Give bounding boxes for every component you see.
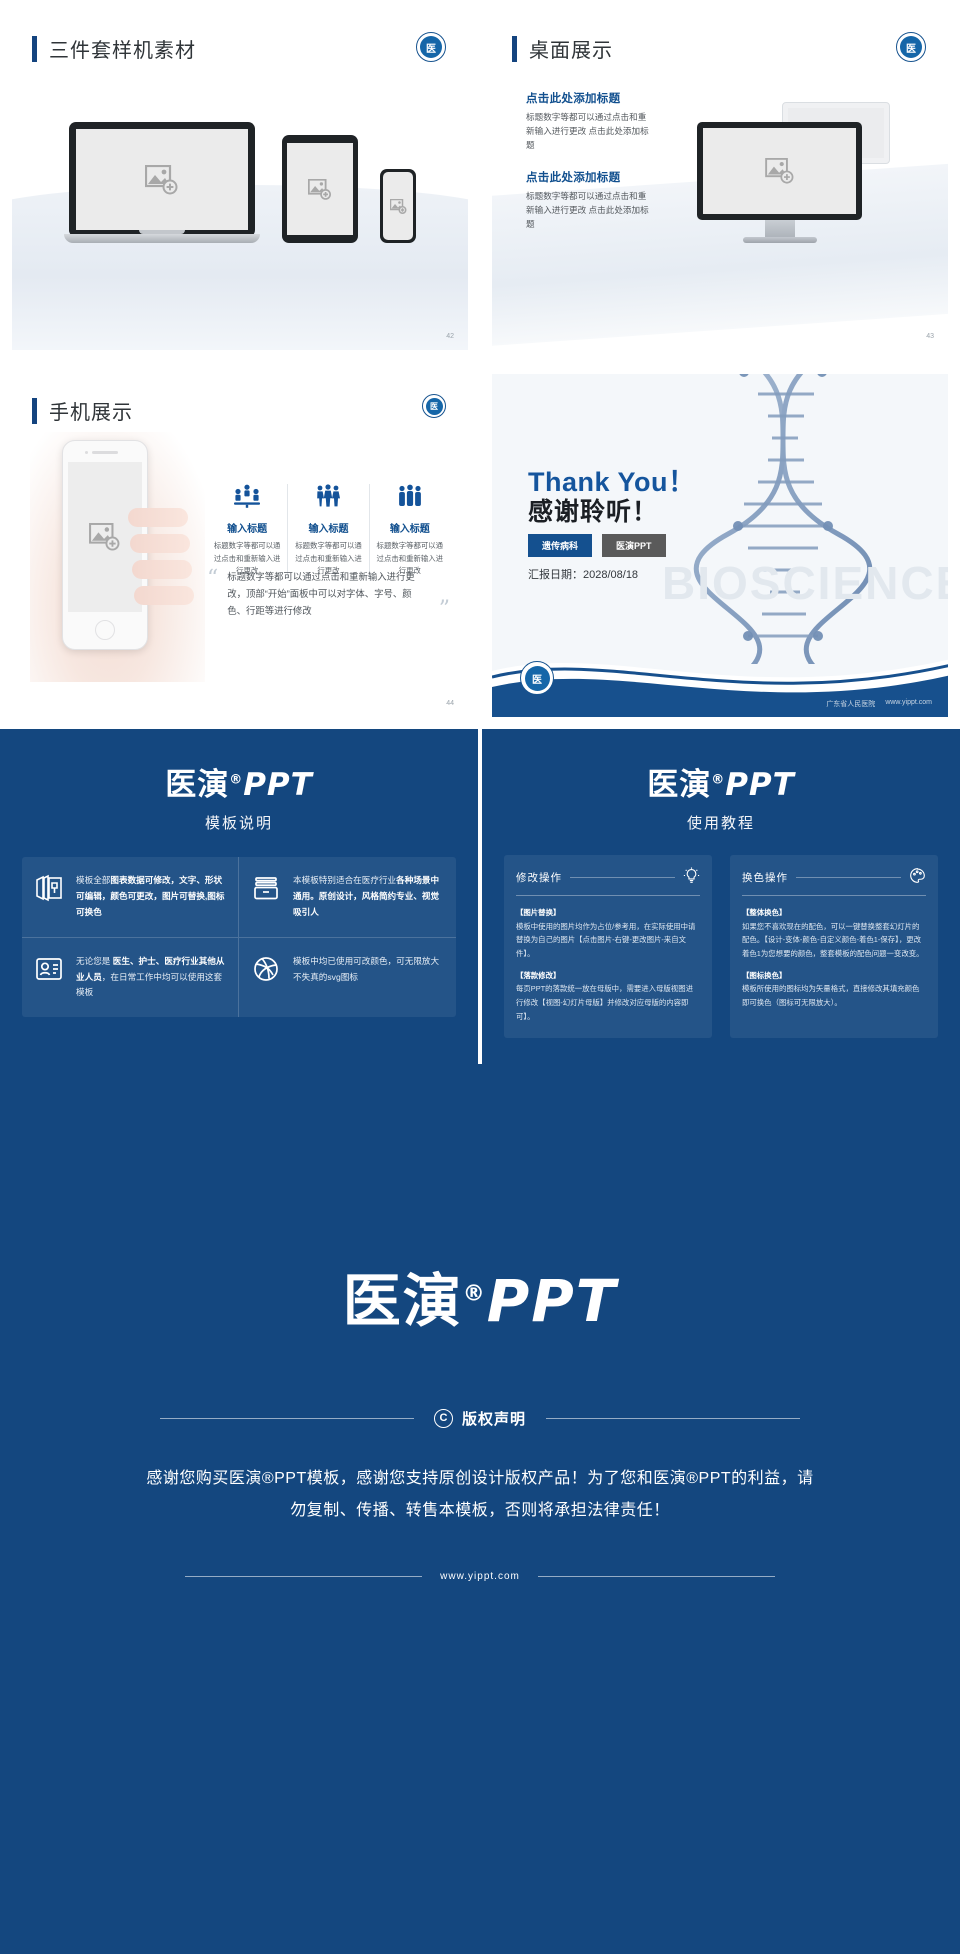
tutorial-item-label: 【整体换色】 (742, 906, 926, 920)
laptop-notch (139, 230, 185, 234)
quote-close-icon: ” (439, 600, 450, 620)
tutorial-heading: 修改操作 (516, 870, 562, 885)
divider-left (185, 1576, 422, 1577)
tag-row: 遗传病科 医演PPT (528, 534, 666, 557)
slide-thumb-desktop[interactable]: 桌面展示 医 点击此处添加标题 标题数字等都可以通过点击和重新输入进行更改 点击… (480, 0, 960, 362)
slide-canvas: 手机展示 医 (12, 374, 468, 717)
description-cell: 模板全部图表数据可修改，文字、形状可编辑，颜色可更改，图片可替换,图标可换色 (22, 857, 239, 938)
hospital-logo: 医 (422, 394, 446, 418)
quote-block: “ 标题数字等都可以通过点击和重新输入进行更改，顶部“开始”面板中可以对字体、字… (207, 569, 450, 620)
website-url[interactable]: www.yippt.com (440, 1571, 520, 1582)
hospital-logo-mark: 医 (420, 36, 442, 58)
slide-header: 手机展示 (32, 396, 133, 425)
feature-title: 输入标题 (294, 520, 362, 535)
block-body: 标题数字等都可以通过点击和重新输入进行更改 点击此处添加标题 (526, 110, 654, 153)
tag-department[interactable]: 遗传病科 (528, 534, 592, 557)
tutorial-body: 【整体换色】 如果您不喜欢现在的配色，可以一键替换整套幻灯片的配色。【设计-变体… (742, 906, 926, 1010)
tutorial-heading-row: 修改操作 (516, 867, 700, 896)
description-text: 本模板特别适合在医疗行业各种场景中通用。原创设计，风格简约专业、视觉吸引人 (293, 873, 444, 921)
hospital-logo: 医 (896, 32, 926, 62)
archive-box-icon (251, 873, 281, 921)
tutorial-column-edit: 修改操作 【图片替换】 模板中使用的图片均作为占位/参考用，在实际使 (504, 855, 712, 1038)
laptop-mockup (64, 122, 260, 243)
description-text: 模板全部图表数据可修改，文字、形状可编辑，颜色可更改，图片可替换,图标可换色 (76, 873, 226, 921)
tutorial-item-text: 模板所使用的图标均为矢量格式，直接修改其填充颜色即可换色（图标可无限放大）。 (742, 984, 919, 1007)
slide-page-number: 44 (446, 700, 454, 707)
copyright-declaration: C 版权声明 (434, 1408, 526, 1429)
brand-name: 医演 (165, 767, 229, 803)
palette-icon (909, 867, 926, 887)
quote-open-icon: “ (207, 569, 218, 589)
feature-item: 输入标题 标题数字等都可以通过点击和重新输入进行更改 (370, 484, 450, 578)
phone-speaker (92, 451, 118, 454)
copyright-label: 版权声明 (462, 1408, 526, 1429)
feature-row: 输入标题 标题数字等都可以通过点击和重新输入进行更改 输入标题 标题数 (207, 484, 450, 578)
image-placeholder-icon (765, 158, 795, 184)
description-text: 无论您是 医生、护士、医疗行业其他从业人员，在日常工作中均可以使用这套模板 (76, 954, 226, 1002)
device-mockups (12, 122, 468, 243)
tablet-body (282, 135, 358, 243)
tablet-screen (287, 143, 353, 235)
primary-monitor-mockup (697, 122, 862, 243)
page-title: 三件套样机素材 (49, 34, 196, 63)
usage-tutorial-panel: 医演®PPT 使用教程 修改操作 (482, 729, 960, 1064)
dribbble-ball-icon (251, 954, 281, 1002)
slide-page-number: 43 (926, 333, 934, 340)
monitor-screen (703, 128, 856, 214)
slide-canvas: 三件套样机素材 医 (12, 12, 468, 350)
hand-holding-phone-photo (30, 432, 205, 682)
brand-suffix: PPT (725, 767, 795, 803)
tutorial-item-text: 每页PPT的落款统一放在母版中，需要进入母版视图进行修改【视图-幻灯片母版】并修… (516, 984, 693, 1020)
description-cell: 本模板特别适合在医疗行业各种场景中通用。原创设计，风格简约专业、视觉吸引人 (239, 857, 456, 938)
tutorial-column-recolor: 换色操作 【整体换色】 如果您不喜欢现在的配色，可以一键替换整套幻灯片的配色。【… (730, 855, 938, 1038)
fingers-overlay (126, 502, 202, 662)
tutorial-item-label: 【图片替换】 (516, 906, 700, 920)
description-text: 模板中均已使用可改颜色，可无限放大不失真的svg图标 (293, 954, 444, 1002)
tutorial-item-label: 【落款修改】 (516, 969, 700, 983)
tablet-mockup (282, 135, 358, 243)
text-block: 点击此处添加标题 标题数字等都可以通过点击和重新输入进行更改 点击此处添加标题 (526, 169, 654, 232)
copyright-icon: C (434, 1409, 453, 1428)
block-body: 标题数字等都可以通过点击和重新输入进行更改 点击此处添加标题 (526, 189, 654, 232)
team-meeting-icon (213, 484, 281, 513)
slide-thumbnail-grid: 三件套样机素材 医 (0, 0, 960, 729)
watermark-text: BIOSCIENCE (662, 556, 948, 610)
three-people-icon (376, 484, 444, 513)
heading-divider (796, 877, 901, 878)
description-cell: 无论您是 医生、护士、医疗行业其他从业人员，在日常工作中均可以使用这套模板 (22, 938, 239, 1018)
brand-name: 医演 (647, 767, 711, 803)
panel-subtitle: 模板说明 (22, 812, 456, 833)
block-title: 点击此处添加标题 (526, 169, 654, 185)
copyright-section: 医演®PPT C 版权声明 感谢您购买医演®PPT模板，感谢您支持原创设计版权产… (0, 1064, 960, 1954)
phone-mockup (380, 169, 416, 243)
feature-item: 输入标题 标题数字等都可以通过点击和重新输入进行更改 (288, 484, 369, 578)
phone-home-button (95, 620, 115, 640)
page-title: 桌面展示 (529, 34, 613, 63)
description-cell: 模板中均已使用可改颜色，可无限放大不失真的svg图标 (239, 938, 456, 1018)
block-title: 点击此处添加标题 (526, 90, 654, 106)
phone-camera (85, 451, 88, 454)
brand-registered-mark: ® (463, 1281, 487, 1306)
divider-left (160, 1418, 414, 1419)
slide-thumb-thankyou[interactable]: BIOSCIENCE Thank You！ 感谢聆听！ 遗传病科 医演PPT 汇… (480, 362, 960, 729)
slide-footer: 广东省人民医院 www.yippt.com (826, 699, 932, 709)
text-block: 点击此处添加标题 标题数字等都可以通过点击和重新输入进行更改 点击此处添加标题 (526, 90, 654, 153)
image-placeholder-icon (145, 165, 179, 195)
brand-logo: 医演®PPT (504, 759, 938, 804)
feature-title: 输入标题 (213, 520, 281, 535)
phone-body (380, 169, 416, 243)
info-panel-row: 医演®PPT 模板说明 模板全部图表数据可修改，文字、形状可编辑，颜色可更改，图… (0, 729, 960, 1064)
brand-suffix: PPT (487, 1267, 618, 1335)
slide-header: 桌面展示 (512, 34, 613, 63)
copyright-text: 感谢您购买医演®PPT模板，感谢您支持原创设计版权产品！为了您和医演®PPT的利… (140, 1463, 820, 1527)
tutorial-item-text: 模板中使用的图片均作为占位/参考用，在实际使用中请替换为自己的图片【点击图片-右… (516, 922, 695, 958)
title-accent-bar (512, 36, 517, 62)
feature-title: 输入标题 (376, 520, 444, 535)
lightbulb-icon (683, 867, 700, 887)
hospital-logo: 医 (416, 32, 446, 62)
image-placeholder-icon (308, 179, 332, 200)
laptop-screen (76, 129, 248, 230)
brand-registered-mark: ® (711, 773, 725, 788)
report-date: 汇报日期：2028/08/18 (528, 566, 638, 582)
tutorial-grid: 修改操作 【图片替换】 模板中使用的图片均作为占位/参考用，在实际使 (504, 855, 938, 1038)
hospital-logo-mark: 医 (426, 398, 443, 415)
heading-divider (570, 877, 675, 878)
thankyou-title-cn: 感谢聆听！ (528, 492, 658, 528)
laptop-base (64, 234, 260, 243)
text-column: 点击此处添加标题 标题数字等都可以通过点击和重新输入进行更改 点击此处添加标题 … (526, 90, 654, 231)
slide-canvas: 桌面展示 医 点击此处添加标题 标题数字等都可以通过点击和重新输入进行更改 点击… (492, 12, 948, 350)
tutorial-heading: 换色操作 (742, 870, 788, 885)
title-accent-bar (32, 36, 37, 62)
tutorial-item-text: 如果您不喜欢现在的配色，可以一键替换整套幻灯片的配色。【设计-变体-颜色-自定义… (742, 922, 924, 958)
monitor-foot (743, 237, 817, 243)
copyright-url-row: www.yippt.com (185, 1571, 775, 1582)
slide-canvas: BIOSCIENCE Thank You！ 感谢聆听！ 遗传病科 医演PPT 汇… (492, 374, 948, 717)
laptop-lid (69, 122, 255, 237)
hospital-logo: 医 (520, 661, 554, 695)
tag-brand[interactable]: 医演PPT (602, 534, 666, 557)
brand-logo: 医演®PPT (22, 759, 456, 804)
page-title: 手机展示 (49, 396, 133, 425)
phone-screen (383, 172, 413, 240)
book-pages-icon (34, 873, 64, 921)
slide-page-number: 42 (446, 333, 454, 340)
image-placeholder-icon (89, 523, 121, 551)
hospital-logo-mark: 医 (900, 36, 922, 58)
quote-text: 标题数字等都可以通过点击和重新输入进行更改，顶部“开始”面板中可以对字体、字号、… (227, 569, 430, 620)
template-description-panel: 医演®PPT 模板说明 模板全部图表数据可修改，文字、形状可编辑，颜色可更改，图… (0, 729, 478, 1064)
brand-logo-large: 医演®PPT (343, 1254, 618, 1338)
divider-right (546, 1418, 800, 1419)
slide-thumb-phone[interactable]: 手机展示 医 (0, 362, 480, 729)
description-grid: 模板全部图表数据可修改，文字、形状可编辑，颜色可更改，图片可替换,图标可换色 本… (22, 857, 456, 1017)
brand-registered-mark: ® (229, 773, 243, 788)
monitor-bezel (697, 122, 862, 220)
panel-subtitle: 使用教程 (504, 812, 938, 833)
image-placeholder-icon (390, 199, 407, 214)
copyright-heading-row: C 版权声明 (160, 1408, 800, 1429)
group-people-icon (294, 484, 362, 513)
tutorial-item-label: 【图标换色】 (742, 969, 926, 983)
monitor-neck (765, 220, 795, 237)
footer-hospital-name: 广东省人民医院 (826, 699, 875, 709)
footer-website[interactable]: www.yippt.com (885, 699, 932, 709)
brand-suffix: PPT (243, 767, 313, 803)
divider-right (538, 1576, 775, 1577)
slide-header: 三件套样机素材 (32, 34, 196, 63)
page-root: 三件套样机素材 医 (0, 0, 960, 1954)
brand-name: 医演 (343, 1267, 463, 1335)
tutorial-heading-row: 换色操作 (742, 867, 926, 896)
feature-item: 输入标题 标题数字等都可以通过点击和重新输入进行更改 (207, 484, 288, 578)
hospital-logo-mark: 医 (525, 666, 550, 691)
slide-thumb-devices[interactable]: 三件套样机素材 医 (0, 0, 480, 362)
dna-helix-graphic (688, 374, 948, 664)
id-card-icon (34, 954, 64, 1002)
title-accent-bar (32, 398, 37, 424)
tutorial-body: 【图片替换】 模板中使用的图片均作为占位/参考用，在实际使用中请替换为自己的图片… (516, 906, 700, 1024)
